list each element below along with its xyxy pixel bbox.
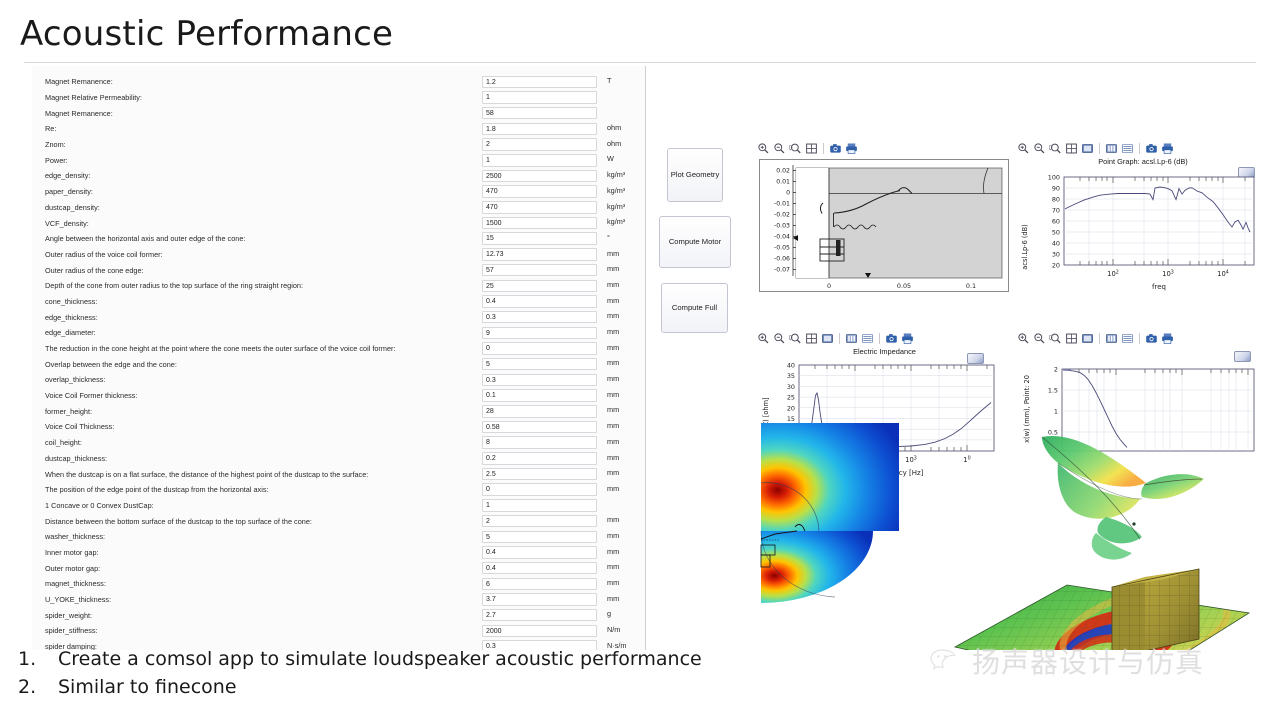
parameter-label: paper_density: <box>45 187 93 196</box>
parameter-row: Voice Coil Former thickness:0.1mm <box>32 388 645 404</box>
svg-text:100: 100 <box>1048 174 1060 182</box>
parameter-row: The position of the edge point of the du… <box>32 482 645 498</box>
watermark-text: 扬声器设计与仿真 <box>972 641 1204 681</box>
parameter-row: washer_thickness:5mm <box>32 529 645 545</box>
zoom-extents-icon[interactable] <box>805 332 818 345</box>
zoom-out-icon[interactable] <box>773 142 786 155</box>
zoom-in-icon[interactable] <box>1017 142 1030 155</box>
svg-text:1: 1 <box>1054 408 1058 416</box>
geometry-plot-frame: 0.02 0.01 0 -0.01 -0.02 -0.03 -0.04 -0.0… <box>759 159 1009 292</box>
parameter-unit: mm <box>607 405 619 414</box>
svg-text:-0.01: -0.01 <box>774 201 790 208</box>
parameter-label: U_YOKE_thickness: <box>45 595 111 604</box>
parameter-value-input[interactable]: 1500 <box>482 217 597 230</box>
parameter-label: dustcap_density: <box>45 203 100 212</box>
plot-columns-icon[interactable] <box>1105 142 1118 155</box>
parameter-label: VCF_density: <box>45 219 89 228</box>
camera-icon[interactable] <box>885 332 898 345</box>
bullet-item: 2.Similar to finecone <box>18 674 702 702</box>
parameter-value-input[interactable]: 2 <box>482 138 597 151</box>
parameter-label: former_height: <box>45 407 92 416</box>
comsol-app-window: Magnet Remanence:1.2TMagnet Relative Per… <box>24 62 1256 650</box>
parameter-row: spider_stiffness:2000N/m <box>32 623 645 639</box>
toolbar-separator <box>1139 333 1140 344</box>
parameter-label: spider_stiffness: <box>45 626 98 635</box>
parameter-label: Magnet Remanence: <box>45 109 113 118</box>
parameter-row: dustcap_thickness:0.2mm <box>32 451 645 467</box>
parameter-label: Distance between the bottom surface of t… <box>45 517 312 526</box>
svg-text:0: 0 <box>827 282 831 290</box>
parameter-unit: mm <box>607 264 619 273</box>
geometry-cross-section-graphic: 0.02 0.01 0 -0.01 -0.02 -0.03 -0.04 -0.0… <box>760 160 1008 291</box>
3d-mesh-wave-plot <box>949 555 1256 650</box>
svg-text:-0.07: -0.07 <box>774 267 790 274</box>
svg-text:-0.03: -0.03 <box>774 223 790 230</box>
parameter-value-input[interactable]: 2.7 <box>482 609 597 622</box>
zoom-box-icon[interactable] <box>1049 332 1062 345</box>
parameter-label: magnet_thickness: <box>45 579 106 588</box>
zoom-box-icon[interactable] <box>1049 142 1062 155</box>
scene-light-icon[interactable] <box>821 332 834 345</box>
acoustic-pressure-field-plot <box>757 421 917 606</box>
parameter-value-input[interactable]: 0.3 <box>482 311 597 324</box>
3d-directivity-lobe-plot <box>1036 421 1226 566</box>
parameter-unit: mm <box>607 390 619 399</box>
parameter-value-input[interactable]: 5 <box>482 358 597 371</box>
parameter-row: Magnet Relative Permeability:1 <box>32 90 645 106</box>
parameter-row: U_YOKE_thickness:3.7mm <box>32 592 645 608</box>
watermark: 扬声器设计与仿真 <box>930 641 1204 681</box>
parameter-value-input[interactable]: 1.8 <box>482 123 597 136</box>
parameter-label: The reduction in the cone height at the … <box>45 344 395 353</box>
parameter-row: paper_density:470kg/m³ <box>32 184 645 200</box>
parameter-unit: mm <box>607 453 619 462</box>
svg-text:0.02: 0.02 <box>776 168 790 175</box>
parameter-row: Voice Coil Thickness:0.58mm <box>32 419 645 435</box>
parameter-label: 1 Concave or 0 Convex DustCap: <box>45 501 154 510</box>
plot-columns-icon[interactable] <box>1105 332 1118 345</box>
bullet-number: 2. <box>18 674 58 702</box>
parameter-unit: N/m <box>607 625 620 634</box>
svg-text:35: 35 <box>787 372 795 380</box>
parameter-label: Inner motor gap: <box>45 548 99 557</box>
scene-light-icon[interactable] <box>1081 332 1094 345</box>
displacement-plot-toolbar <box>1017 331 1174 346</box>
parameter-value-input[interactable]: 1 <box>482 154 597 167</box>
wechat-icon <box>930 647 964 675</box>
spl-plot-title: Point Graph: acsl.Lp-6 (dB) <box>1017 157 1256 166</box>
svg-text:20: 20 <box>1052 262 1060 270</box>
parameter-value-input[interactable]: 28 <box>482 405 597 418</box>
parameter-label: Depth of the cone from outer radius to t… <box>45 281 303 290</box>
parameter-row: Re:1.8ohm <box>32 121 645 137</box>
svg-text:1.5: 1.5 <box>1048 387 1058 395</box>
parameter-value-input[interactable]: 25 <box>482 280 597 293</box>
parameter-unit: mm <box>607 578 619 587</box>
parameter-row: magnet_thickness:6mm <box>32 576 645 592</box>
parameter-unit: kg/m³ <box>607 202 625 211</box>
compute-full-button[interactable]: Compute Full <box>661 283 728 333</box>
print-icon[interactable] <box>845 142 858 155</box>
parameter-value-input[interactable]: 0.4 <box>482 295 597 308</box>
spl-chart-graphic: acsl.Lp-6 (dB) <box>1017 169 1256 299</box>
print-icon[interactable] <box>901 332 914 345</box>
parameter-row: Znom:2ohm <box>32 137 645 153</box>
bullet-number: 1. <box>18 646 58 674</box>
parameter-row: dustcap_density:470kg/m³ <box>32 200 645 216</box>
zoom-box-icon[interactable] <box>789 142 802 155</box>
svg-text:0.1: 0.1 <box>966 282 976 290</box>
parameter-value-input[interactable]: 0 <box>482 483 597 496</box>
parameter-row: overlap_thickness:0.3mm <box>32 372 645 388</box>
parameter-label: cone_thickness: <box>45 297 97 306</box>
parameter-label: Magnet Relative Permeability: <box>45 93 142 102</box>
parameter-row: Overlap between the edge and the cone:5m… <box>32 356 645 372</box>
parameter-value-input[interactable]: 15 <box>482 232 597 245</box>
svg-text:0.01: 0.01 <box>776 179 790 186</box>
parameter-row: edge_thickness:0.3mm <box>32 309 645 325</box>
svg-text:2: 2 <box>1054 366 1058 374</box>
svg-text:acsl.Lp-6 (dB): acsl.Lp-6 (dB) <box>1021 224 1029 269</box>
print-icon[interactable] <box>1161 332 1174 345</box>
parameter-unit: mm <box>607 562 619 571</box>
svg-text:x(w) (mm), Point: 20: x(w) (mm), Point: 20 <box>1023 375 1031 443</box>
parameter-label: Overlap between the edge and the cone: <box>45 360 177 369</box>
spl-plot-panel: Point Graph: acsl.Lp-6 (dB) acsl.Lp-6 (d… <box>1017 141 1256 309</box>
svg-text:-0.02: -0.02 <box>774 212 790 219</box>
parameter-value-input[interactable]: 0.2 <box>482 452 597 465</box>
compute-motor-button[interactable]: Compute Motor <box>659 216 731 268</box>
parameter-value-input[interactable]: 1 <box>482 91 597 104</box>
zoom-in-icon[interactable] <box>757 332 770 345</box>
parameter-label: washer_thickness: <box>45 532 105 541</box>
svg-text:104: 104 <box>1217 270 1229 278</box>
parameter-label: Outer motor gap: <box>45 564 100 573</box>
zoom-in-icon[interactable] <box>757 142 770 155</box>
parameter-value-input[interactable]: 0.1 <box>482 389 597 402</box>
toolbar-separator <box>879 333 880 344</box>
parameter-unit: kg/m³ <box>607 186 625 195</box>
zoom-in-icon[interactable] <box>1017 332 1030 345</box>
svg-text:-0.05: -0.05 <box>774 245 790 252</box>
parameter-row: When the dustcap is on a flat surface, t… <box>32 466 645 482</box>
parameter-value-input[interactable]: 1 <box>482 499 597 512</box>
parameter-unit: mm <box>607 531 619 540</box>
parameter-label: Outer radius of the cone edge: <box>45 266 144 275</box>
parameter-label: Power: <box>45 156 68 165</box>
parameter-row: Power:1W <box>32 152 645 168</box>
parameter-label: dustcap_thickness: <box>45 454 107 463</box>
svg-text:30: 30 <box>787 383 795 391</box>
camera-icon[interactable] <box>829 142 842 155</box>
parameter-row: coil_height:8mm <box>32 435 645 451</box>
parameter-unit: mm <box>607 249 619 258</box>
zoom-extents-icon[interactable] <box>1065 332 1078 345</box>
bullet-text: Similar to finecone <box>58 674 237 702</box>
parameter-label: Outer radius of the voice coil former: <box>45 250 163 259</box>
parameter-unit: ohm <box>607 139 621 148</box>
parameter-row: The reduction in the cone height at the … <box>32 341 645 357</box>
plot-table-icon[interactable] <box>1121 332 1134 345</box>
parameter-unit: mm <box>607 280 619 289</box>
parameter-row: Angle between the horizontal axis and ou… <box>32 231 645 247</box>
svg-text:-0.04: -0.04 <box>774 234 790 241</box>
plot-columns-icon[interactable] <box>845 332 858 345</box>
parameter-value-input[interactable]: 58 <box>482 107 597 120</box>
parameter-label: Angle between the horizontal axis and ou… <box>45 234 245 243</box>
svg-text:10: 10 <box>963 456 970 464</box>
svg-text:freq: freq <box>1152 283 1166 291</box>
parameter-label: Znom: <box>45 140 66 149</box>
svg-text:103: 103 <box>1162 270 1174 278</box>
parameter-row: Inner motor gap:0.4mm <box>32 545 645 561</box>
parameter-unit: ° <box>607 233 610 242</box>
parameter-value-input[interactable]: 1.2 <box>482 76 597 89</box>
parameter-value-input[interactable]: 0 <box>482 342 597 355</box>
svg-text:0.05: 0.05 <box>897 282 911 290</box>
parameter-row: spider_weight:2.7g <box>32 607 645 623</box>
parameter-value-input[interactable]: 470 <box>482 185 597 198</box>
camera-icon[interactable] <box>1145 142 1158 155</box>
parameter-row: Magnet Remanence:58 <box>32 105 645 121</box>
parameter-label: edge_diameter: <box>45 328 96 337</box>
parameter-unit: mm <box>607 594 619 603</box>
parameter-label: When the dustcap is on a flat surface, t… <box>45 470 368 479</box>
zoom-out-icon[interactable] <box>1033 332 1046 345</box>
parameter-value-input[interactable]: 2 <box>482 515 597 528</box>
parameter-value-input[interactable]: 2000 <box>482 625 597 638</box>
plot-geometry-button[interactable]: Plot Geometry <box>667 148 723 202</box>
geometry-plot-toolbar <box>757 141 858 156</box>
parameter-row: VCF_density:1500kg/m³ <box>32 215 645 231</box>
action-button-group: Plot Geometry Compute Motor Compute Full <box>649 63 749 648</box>
parameter-row: Magnet Remanence:1.2T <box>32 74 645 90</box>
spl-plot-toolbar <box>1017 141 1174 156</box>
bullet-text: Create a comsol app to simulate loudspea… <box>58 646 702 674</box>
svg-text:0: 0 <box>786 190 790 197</box>
parameter-label: Re: <box>45 124 56 133</box>
scene-light-icon[interactable] <box>1081 142 1094 155</box>
parameter-row: Outer motor gap:0.4mm <box>32 560 645 576</box>
plot-table-icon[interactable] <box>861 332 874 345</box>
geometry-plot-panel: 0.02 0.01 0 -0.01 -0.02 -0.03 -0.04 -0.0… <box>757 141 1012 309</box>
toolbar-separator <box>823 143 824 154</box>
parameter-label: edge_thickness: <box>45 313 98 322</box>
parameter-unit: mm <box>607 296 619 305</box>
parameter-label: edge_density: <box>45 171 90 180</box>
parameter-value-input[interactable]: 5 <box>482 531 597 544</box>
svg-text:50: 50 <box>1052 229 1060 237</box>
parameter-unit: kg/m³ <box>607 170 625 179</box>
parameter-unit: mm <box>607 484 619 493</box>
parameter-unit: mm <box>607 374 619 383</box>
toolbar-separator <box>1099 333 1100 344</box>
svg-text:40: 40 <box>787 362 795 370</box>
zoom-out-icon[interactable] <box>773 332 786 345</box>
parameter-unit: T <box>607 76 611 85</box>
parameter-value-input[interactable]: 8 <box>482 436 597 449</box>
parameter-value-input[interactable]: 3.7 <box>482 593 597 606</box>
parameter-value-input[interactable]: 9 <box>482 327 597 340</box>
zoom-extents-icon[interactable] <box>805 142 818 155</box>
parameter-label: Voice Coil Former thickness: <box>45 391 137 400</box>
parameter-label: overlap_thickness: <box>45 375 105 384</box>
parameter-row: Outer radius of the voice coil former:12… <box>32 247 645 263</box>
bullet-list: 1.Create a comsol app to simulate loudsp… <box>18 646 702 701</box>
parameter-unit: mm <box>607 421 619 430</box>
parameter-row: cone_thickness:0.4mm <box>32 294 645 310</box>
parameter-unit: mm <box>607 547 619 556</box>
svg-text:-0.06: -0.06 <box>774 256 790 263</box>
toolbar-separator <box>1099 143 1100 154</box>
zoom-out-icon[interactable] <box>1033 142 1046 155</box>
parameter-row: edge_density:2500kg/m³ <box>32 168 645 184</box>
svg-text:80: 80 <box>1052 196 1060 204</box>
zoom-extents-icon[interactable] <box>1065 142 1078 155</box>
parameter-value-input[interactable]: 0.4 <box>482 562 597 575</box>
zoom-box-icon[interactable] <box>789 332 802 345</box>
parameter-unit: mm <box>607 515 619 524</box>
svg-text:25: 25 <box>787 394 795 402</box>
svg-text:70: 70 <box>1052 207 1060 215</box>
parameter-row: edge_diameter:9mm <box>32 325 645 341</box>
parameter-unit: mm <box>607 468 619 477</box>
parameter-label: coil_height: <box>45 438 82 447</box>
svg-text:30: 30 <box>1052 251 1060 259</box>
impedance-plot-toolbar <box>757 331 914 346</box>
parameter-value-input[interactable]: 6 <box>482 578 597 591</box>
parameter-unit: W <box>607 154 614 163</box>
svg-text:20: 20 <box>787 404 795 412</box>
parameter-unit: mm <box>607 437 619 446</box>
svg-text:60: 60 <box>1052 218 1060 226</box>
toolbar-separator <box>839 333 840 344</box>
page-title: Acoustic Performance <box>20 14 393 54</box>
parameter-label: spider_weight: <box>45 611 92 620</box>
bullet-item: 1.Create a comsol app to simulate loudsp… <box>18 646 702 674</box>
parameter-value-input[interactable]: 57 <box>482 264 597 277</box>
parameter-value-input[interactable]: 2.5 <box>482 468 597 481</box>
parameter-unit: g <box>607 609 611 618</box>
parameter-unit: kg/m³ <box>607 217 625 226</box>
parameter-unit: mm <box>607 327 619 336</box>
camera-icon[interactable] <box>1145 332 1158 345</box>
parameter-label: The position of the edge point of the du… <box>45 485 269 494</box>
parameters-panel: Magnet Remanence:1.2TMagnet Relative Per… <box>32 66 646 650</box>
parameter-value-input[interactable]: 2500 <box>482 170 597 183</box>
parameter-unit: mm <box>607 311 619 320</box>
parameter-unit: mm <box>607 358 619 367</box>
parameter-row: 1 Concave or 0 Convex DustCap:1 <box>32 498 645 514</box>
parameter-unit: mm <box>607 343 619 352</box>
print-icon[interactable] <box>1161 142 1174 155</box>
parameter-unit: ohm <box>607 123 621 132</box>
parameter-row: Outer radius of the cone edge:57mm <box>32 262 645 278</box>
parameter-value-input[interactable]: 0.58 <box>482 421 597 434</box>
parameter-row: Depth of the cone from outer radius to t… <box>32 278 645 294</box>
svg-text:102: 102 <box>1107 270 1119 278</box>
parameter-label: Magnet Remanence: <box>45 77 113 86</box>
parameter-value-input[interactable]: 0.4 <box>482 546 597 559</box>
svg-text:90: 90 <box>1052 185 1060 193</box>
parameter-value-input[interactable]: 470 <box>482 201 597 214</box>
parameter-value-input[interactable]: 0.3 <box>482 374 597 387</box>
svg-text:40: 40 <box>1052 240 1060 248</box>
parameter-row: former_height:28mm <box>32 403 645 419</box>
toolbar-separator <box>1139 143 1140 154</box>
parameter-value-input[interactable]: 12.73 <box>482 248 597 261</box>
parameter-row: Distance between the bottom surface of t… <box>32 513 645 529</box>
parameter-label: Voice Coil Thickness: <box>45 422 114 431</box>
plot-table-icon[interactable] <box>1121 142 1134 155</box>
